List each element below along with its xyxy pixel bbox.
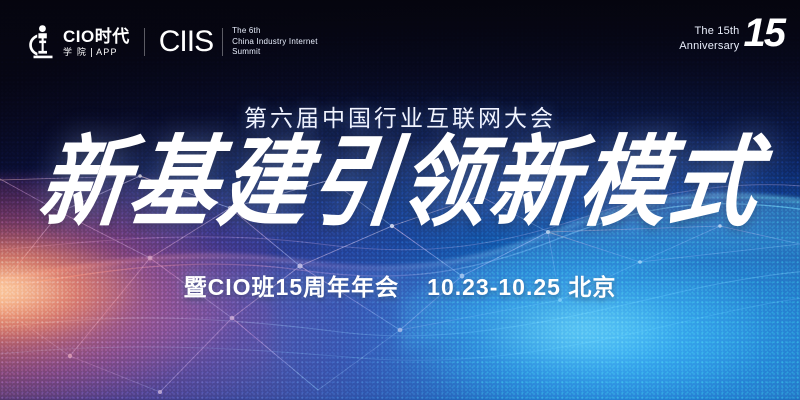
cio-sub-separator-icon	[91, 48, 92, 57]
cio-sub-right: APP	[96, 48, 118, 57]
anniversary-line-1: The 15th	[679, 24, 739, 39]
cio-logo-name: CIO时代	[63, 28, 130, 45]
ciis-inner-divider	[222, 28, 223, 56]
footer-date-location: 10.23-10.25 北京	[427, 268, 616, 302]
conference-footer: 暨CIO班15周年年会 10.23-10.25 北京	[0, 268, 800, 302]
footer-event-name: 暨CIO班15周年年会	[184, 268, 399, 302]
cio-logo-sub: 学 院 APP	[63, 48, 118, 57]
ciis-logo[interactable]: CIIS The 6th China Industry Internet Sum…	[159, 26, 318, 58]
cio-logo[interactable]: CIO时代 学 院 APP	[28, 24, 130, 60]
ciis-logo-mark: CIIS	[159, 27, 213, 57]
ciis-sub-line-2: China Industry Internet	[232, 37, 318, 48]
brand-logo-row: CIO时代 学 院 APP CIIS The 6th China Industr…	[28, 24, 318, 60]
conference-headline: 新基建引领新模式	[0, 133, 800, 232]
ciis-logo-subtitle: The 6th China Industry Internet Summit	[232, 26, 318, 58]
conference-poster: CIO时代 学 院 APP CIIS The 6th China Industr…	[0, 0, 800, 400]
ciis-sub-line-1: The 6th	[232, 26, 318, 37]
cio-person-mark-icon	[28, 24, 58, 60]
anniversary-logo: The 15th Anniversary 15	[679, 22, 784, 56]
anniversary-line-2: Anniversary	[679, 39, 739, 54]
cio-sub-left: 学 院	[63, 48, 87, 57]
ciis-sub-line-3: Summit	[232, 47, 318, 58]
anniversary-text: The 15th Anniversary	[679, 24, 739, 54]
logo-divider	[144, 28, 145, 56]
anniversary-number: 15	[744, 16, 785, 50]
